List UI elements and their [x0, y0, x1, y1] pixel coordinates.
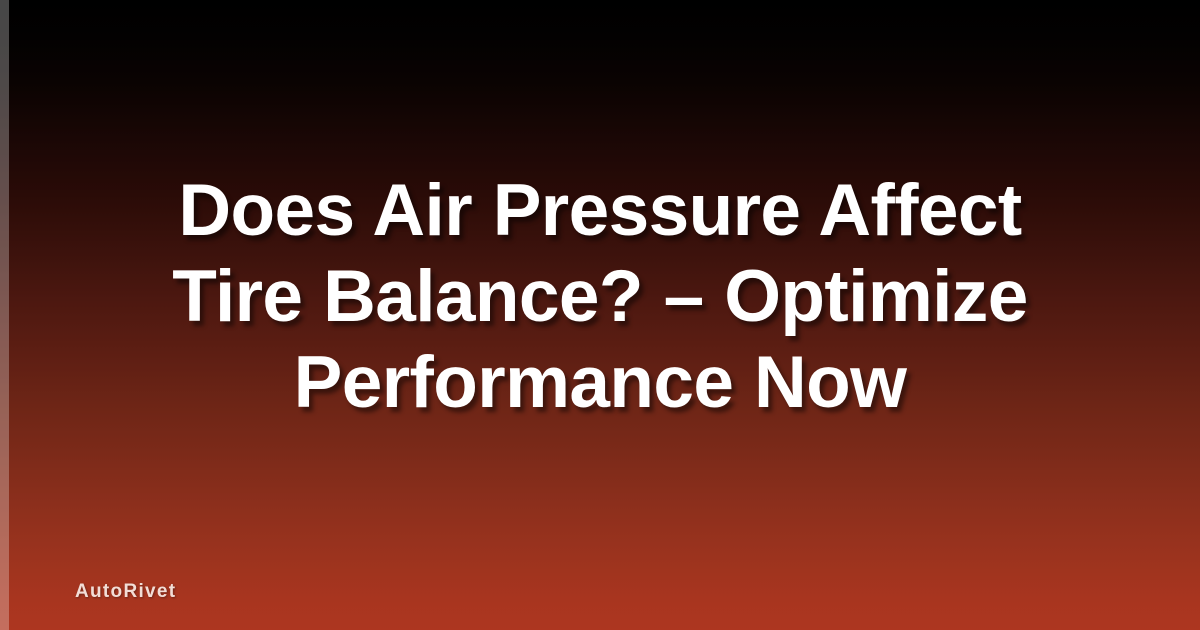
- brand-wordmark: AutoRivet: [75, 581, 176, 603]
- social-share-card: Does Air Pressure Affect Tire Balance? –…: [0, 0, 1200, 630]
- hero-title-block: Does Air Pressure Affect Tire Balance? –…: [0, 168, 1200, 426]
- page-title: Does Air Pressure Affect Tire Balance? –…: [64, 168, 1136, 426]
